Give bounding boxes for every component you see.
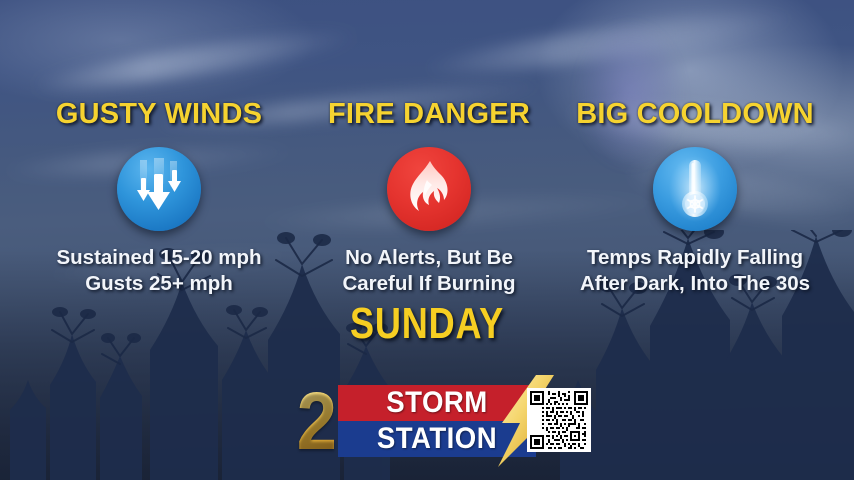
column-title: FIRE DANGER <box>288 100 570 129</box>
column-body-line-2: After Dark, Into The 30s <box>554 271 836 297</box>
forecast-column-fire-danger: FIRE DANGER No Alerts, But Be <box>288 100 570 297</box>
column-title: GUSTY WINDS <box>18 100 300 129</box>
column-body-line-1: Sustained 15-20 mph <box>18 245 300 271</box>
day-label: SUNDAY <box>77 302 777 346</box>
logo-channel-number: 2 <box>297 381 337 463</box>
column-body-line-2: Gusts 25+ mph <box>18 271 300 297</box>
column-icon <box>18 145 300 233</box>
column-title: BIG COOLDOWN <box>554 100 836 129</box>
column-icon <box>288 145 570 233</box>
forecast-column-big-cooldown: BIG COOLDOWN <box>554 100 836 297</box>
column-body-line-1: Temps Rapidly Falling <box>554 245 836 271</box>
column-body-line-2: Careful If Burning <box>288 271 570 297</box>
column-body: Sustained 15-20 mph Gusts 25+ mph <box>18 245 300 297</box>
weather-graphic-stage: GUSTY WINDS <box>0 0 854 480</box>
down-arrows-icon <box>117 147 201 231</box>
station-logo: STORM STATION 2 <box>294 385 594 457</box>
qr-code-icon[interactable] <box>527 388 591 452</box>
flame-icon <box>387 147 471 231</box>
column-body: No Alerts, But Be Careful If Burning <box>288 245 570 297</box>
column-body: Temps Rapidly Falling After Dark, Into T… <box>554 245 836 297</box>
column-icon <box>554 145 836 233</box>
forecast-column-gusty-winds: GUSTY WINDS <box>18 100 300 297</box>
thermometer-snowflake-icon <box>653 147 737 231</box>
column-body-line-1: No Alerts, But Be <box>288 245 570 271</box>
